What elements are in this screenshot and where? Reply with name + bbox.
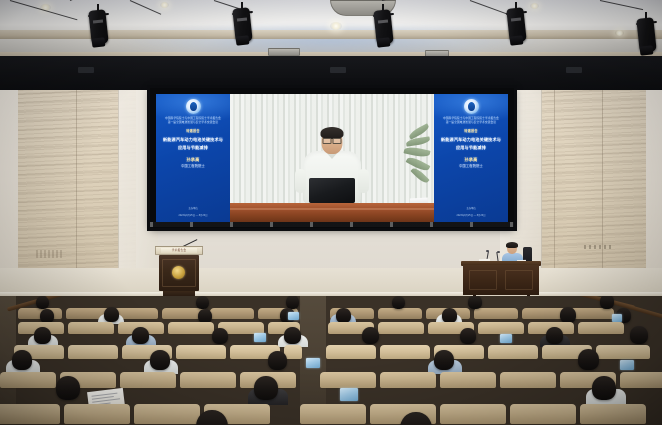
- band-speaker-box: [330, 67, 346, 73]
- eyeglasses-icon: [323, 138, 342, 142]
- title-panel-right: 中国科学院院士与中国工程院院士学术报告会 第一届全国电池智慧与安全学术交流会议 …: [434, 94, 508, 222]
- speaker-name: 孙承高: [437, 157, 505, 162]
- wall-side-right: [644, 62, 662, 294]
- marble-seam: [554, 66, 555, 292]
- title-panel-left: 中国科学院院士与中国工程院院士学术报告会 第一届全国电池智慧与安全学术交流会议 …: [156, 94, 230, 222]
- attendee-head: [546, 327, 563, 344]
- spotlight-lens: [640, 45, 654, 55]
- attendee-head: [34, 327, 51, 344]
- wall-marking-left: [36, 250, 62, 258]
- screen-bottom-trim: [150, 222, 514, 227]
- tablet-screen[interactable]: [340, 388, 358, 401]
- auditorium-seat[interactable]: [580, 404, 646, 424]
- auditorium-seat[interactable]: [68, 345, 118, 359]
- attendee-head: [36, 296, 49, 309]
- spotlight-lens: [92, 37, 106, 47]
- attendee-head: [196, 296, 209, 309]
- auditorium-seat[interactable]: [326, 345, 376, 359]
- panel-date: 2023年8月25日 — 8月26日: [437, 213, 505, 217]
- attendee-head: [460, 328, 476, 344]
- tablet-screen[interactable]: [620, 360, 634, 370]
- spotlight-lens: [510, 35, 524, 45]
- stage-edge: [0, 292, 662, 295]
- conference-line-2: 第一届全国电池智慧与安全学术交流会议: [159, 121, 227, 124]
- auditorium-seat[interactable]: [380, 345, 430, 359]
- auditorium-seat[interactable]: [378, 308, 422, 319]
- led-display-screen: 中国科学院院士与中国工程院院士学术报告会 第一届全国电池智慧与安全学术交流会议 …: [150, 88, 514, 228]
- auditorium-seat[interactable]: [168, 322, 214, 334]
- organization-logo-icon: [464, 99, 479, 114]
- moderator-hair: [506, 242, 518, 248]
- speaker-arm-left: [295, 169, 306, 193]
- auditorium-photo: 中国科学院院士与中国工程院院士学术报告会 第一届全国电池智慧与安全学术交流会议 …: [0, 0, 662, 425]
- attendee-head: [198, 309, 212, 323]
- conference-line-1: 中国科学院院士与中国工程院院士学术报告会: [437, 117, 505, 120]
- talk-title-line-1: 新能源汽车动力电池关键技术与: [437, 137, 505, 143]
- tablet-screen[interactable]: [612, 314, 622, 322]
- attendee-head: [268, 351, 287, 370]
- talk-kicker: 特邀报告: [159, 129, 227, 133]
- auditorium-seat[interactable]: [0, 404, 60, 424]
- attendee-head: [212, 328, 228, 344]
- auditorium-seat[interactable]: [300, 404, 366, 424]
- wall-side-left: [0, 62, 20, 294]
- tablet-screen[interactable]: [254, 333, 266, 342]
- auditorium-seat[interactable]: [488, 345, 538, 359]
- recessed-downlight: [615, 30, 624, 36]
- speaker-name: 孙承高: [159, 157, 227, 162]
- tablet-screen[interactable]: [306, 358, 320, 368]
- wall-marking-right: [584, 245, 614, 249]
- talk-title-line-2: 应用与节能减排: [159, 145, 227, 151]
- speaker-affiliation: 中国工程院院士: [437, 164, 505, 168]
- auditorium-seat[interactable]: [120, 372, 176, 388]
- podium-nameplate-text: 学术报告会: [163, 249, 195, 252]
- spotlight-lens: [236, 35, 250, 45]
- speaker-podium: 学术报告会: [155, 236, 203, 298]
- panel-seam: [118, 64, 119, 292]
- attendee-head: [600, 296, 614, 309]
- attendee-head: [578, 349, 599, 370]
- attendee-head: [254, 376, 278, 400]
- auditorium-seat[interactable]: [570, 308, 614, 319]
- attendee-head: [104, 307, 119, 322]
- tablet-screen[interactable]: [500, 334, 512, 343]
- auditorium-seat[interactable]: [380, 372, 436, 388]
- attendee-head: [40, 309, 54, 323]
- auditorium-seat[interactable]: [68, 322, 114, 334]
- microphone-head-icon: [497, 251, 500, 253]
- marble-seam: [76, 66, 77, 292]
- auditorium-seat[interactable]: [134, 404, 200, 424]
- audience-seating-area: [0, 296, 662, 425]
- auditorium-seat[interactable]: [176, 345, 226, 359]
- auditorium-seat[interactable]: [500, 372, 556, 388]
- moderator-desk: [461, 249, 541, 299]
- auditorium-seat[interactable]: [0, 372, 56, 388]
- talk-title-line-1: 新能源汽车动力电池关键技术与: [159, 137, 227, 143]
- band-speaker-box: [78, 67, 94, 73]
- tablet-screen[interactable]: [288, 312, 299, 320]
- auditorium-seat[interactable]: [620, 372, 662, 388]
- band-speaker-box: [566, 67, 582, 73]
- gold-institution-emblem-icon: [172, 266, 185, 279]
- microphone-head-icon: [486, 250, 489, 252]
- auditorium-seat[interactable]: [378, 322, 424, 334]
- led-screen-content: 中国科学院院士与中国工程院院士学术报告会 第一届全国电池智慧与安全学术交流会议 …: [156, 94, 508, 222]
- attendee-head: [56, 376, 80, 400]
- stage-spotlight: [88, 4, 110, 50]
- attendee-head: [336, 308, 351, 323]
- desk-trim-panel: [469, 270, 497, 290]
- panel-seam: [541, 64, 542, 292]
- speaker-affiliation: 中国工程院院士: [159, 164, 227, 168]
- stage-spotlight: [232, 2, 254, 48]
- attendee-head: [132, 327, 149, 344]
- auditorium-seat[interactable]: [210, 308, 254, 319]
- marble-seam: [602, 66, 603, 292]
- stage-spotlight: [506, 2, 528, 48]
- attendee-head: [392, 296, 405, 309]
- laptop-screen: [309, 178, 355, 203]
- auditorium-seat[interactable]: [64, 404, 130, 424]
- auditorium-seat[interactable]: [440, 404, 506, 424]
- talk-kicker: 特邀报告: [437, 129, 505, 133]
- desk-trim-panel: [505, 270, 533, 290]
- stage-spotlight: [373, 4, 395, 50]
- attendee-head: [150, 350, 170, 370]
- attendee-head: [560, 307, 576, 323]
- live-video-feed: [230, 94, 434, 222]
- ceiling-vent-slot: [268, 48, 300, 56]
- panel-footer: 主办单位: [159, 206, 227, 210]
- stage-spotlight: [636, 12, 658, 58]
- speaker-arm-right: [358, 169, 369, 193]
- potted-palm-plant: [392, 124, 432, 196]
- conference-line-2: 第一届全国电池智慧与安全学术交流会议: [437, 121, 505, 124]
- auditorium-seat[interactable]: [596, 345, 650, 359]
- screen-header-band: [0, 56, 662, 90]
- panel-footer: 主办单位: [437, 206, 505, 210]
- attendee-head: [362, 327, 379, 344]
- spotlight-lens: [377, 37, 391, 47]
- auditorium-seat[interactable]: [320, 372, 376, 388]
- attendee-head: [468, 296, 482, 309]
- auditorium-seat[interactable]: [510, 404, 576, 424]
- auditorium-seat[interactable]: [440, 372, 496, 388]
- video-desk: [230, 203, 434, 222]
- auditorium-seat[interactable]: [478, 322, 524, 334]
- panel-date: 2023年8月25日 — 8月26日: [159, 213, 227, 217]
- talk-title-line-2: 应用与节能减排: [437, 145, 505, 151]
- auditorium-seat[interactable]: [180, 372, 236, 388]
- auditorium-seat[interactable]: [578, 322, 624, 334]
- auditorium-seat[interactable]: [474, 308, 518, 319]
- organization-logo-icon: [186, 99, 201, 114]
- attendee-head: [284, 327, 301, 344]
- attendee-head: [434, 350, 454, 370]
- recessed-downlight: [530, 3, 539, 9]
- conference-line-1: 中国科学院院士与中国工程院院士学术报告会: [159, 117, 227, 120]
- attendee-head: [12, 350, 32, 370]
- attendee-head: [442, 308, 457, 323]
- recessed-downlight: [160, 2, 169, 8]
- attendee-head: [630, 326, 648, 344]
- attendee-head: [592, 376, 616, 400]
- recessed-downlight: [330, 22, 342, 30]
